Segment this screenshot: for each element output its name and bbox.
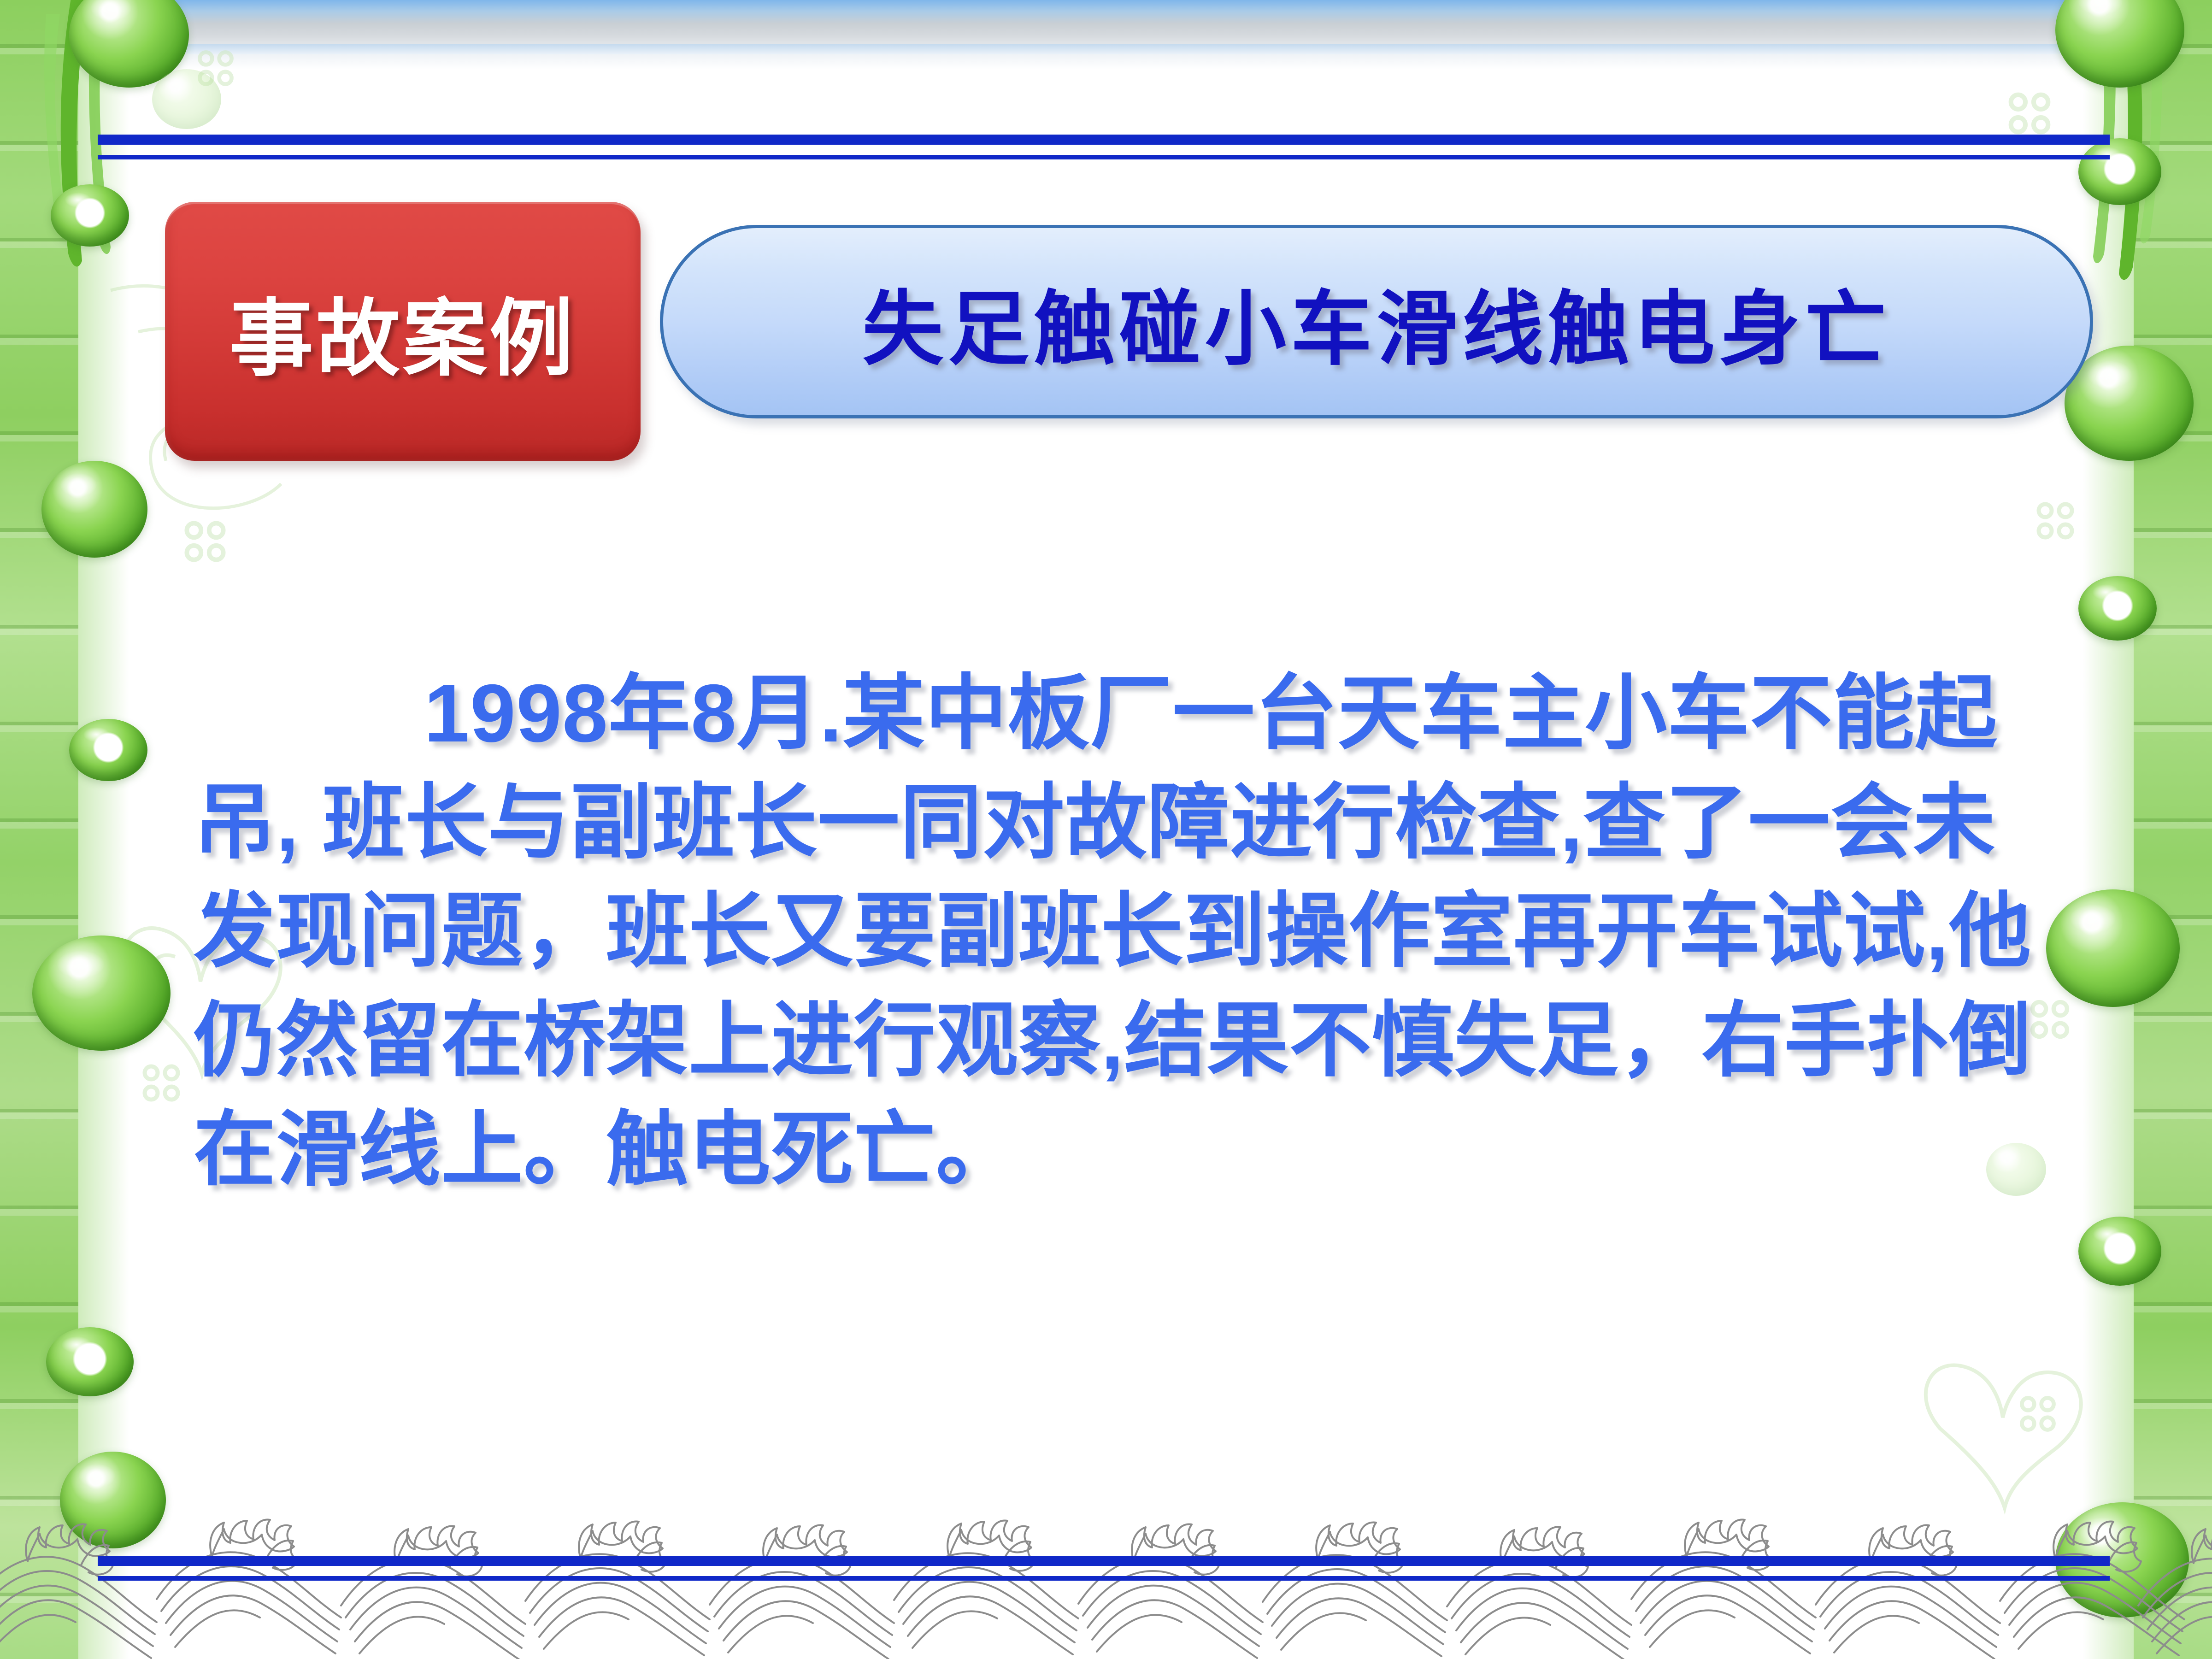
green-bubble-decor [32,935,171,1051]
green-bubble-decor [41,461,147,558]
case-category-badge: 事故案例 [165,202,641,461]
flower-motif-icon [138,1060,184,1106]
green-bubble-decor [51,184,129,247]
slide-canvas: 事故案例 失足触碰小车滑线触电身亡 1998年8月.某中板厂一台天车主小车不能起… [0,0,2212,1659]
rule-gap [98,145,2110,155]
slide-title-pill: 失足触碰小车滑线触电身亡 [660,225,2093,418]
green-bubble-decor [2078,576,2157,641]
flower-motif-icon [2004,88,2055,139]
green-bubble-decor [46,1327,134,1396]
rule-thin-line [98,1576,2110,1581]
rule-thick-line [98,1556,2110,1566]
wave-pattern-decor [0,1507,2212,1659]
green-bubble-decor [2046,889,2180,1007]
green-bubble-decor [152,69,221,129]
rule-gap [98,1566,2110,1576]
bottom-divider-rule [98,1556,2110,1581]
case-description-paragraph: 1998年8月.某中板厂一台天车主小车不能起吊, 班长与副班长一同对故障进行检查… [194,659,2060,1205]
slide-title-text: 失足触碰小车滑线触电身亡 [862,263,1891,381]
green-bubble-decor [69,719,147,781]
flower-motif-icon [2016,1392,2060,1436]
case-category-badge-label: 事故案例 [229,271,576,392]
green-bubble-decor [2065,346,2194,461]
green-bubble-decor [2078,1217,2161,1286]
flower-motif-icon [180,516,230,567]
rule-thick-line [98,135,2110,145]
top-sky-band [0,0,2212,69]
rule-thin-line [98,155,2110,159]
top-divider-rule [98,135,2110,159]
case-description-block: 1998年8月.某中板厂一台天车主小车不能起吊, 班长与副班长一同对故障进行检查… [194,659,2060,1205]
flower-motif-icon [2032,498,2078,544]
